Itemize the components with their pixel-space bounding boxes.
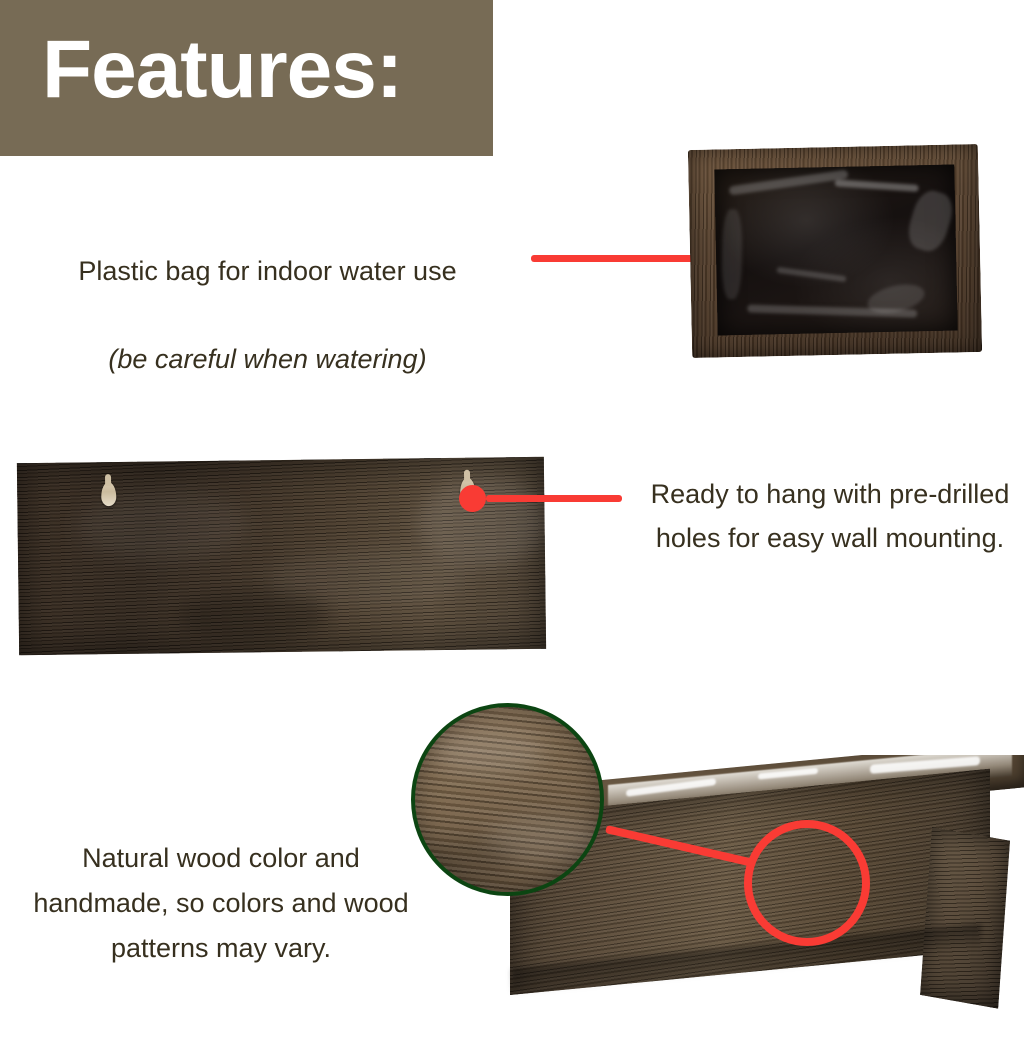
page-title: Features: <box>42 22 402 118</box>
infographic-page: Features: Plastic bag for indoor water u… <box>0 0 1024 1041</box>
liner-highlight <box>758 768 818 780</box>
plastic-sheen <box>729 169 849 195</box>
plastic-sheen <box>904 187 958 255</box>
wood-grain-shadow <box>178 589 329 641</box>
magnified-grain-highlight <box>435 731 545 775</box>
red-circle-highlight-wood-grain <box>744 820 870 946</box>
photo-planter-top-view <box>688 144 982 358</box>
plastic-sheen <box>721 209 742 299</box>
plastic-sheen <box>835 179 919 192</box>
plastic-liner-bag <box>714 164 957 335</box>
caption-ready-to-hang: Ready to hang with pre-drilled holes for… <box>650 472 1010 560</box>
planter-side-face <box>920 827 1010 1009</box>
red-dot-pointer-icon-keyhole <box>459 485 486 512</box>
caption-plastic-bag: Plastic bag for indoor water use (be car… <box>30 205 505 425</box>
features-banner: Features: <box>0 0 493 156</box>
keyhole-slot-icon-left <box>101 482 116 506</box>
caption-plastic-bag-line2: (be careful when watering) <box>30 337 505 381</box>
plastic-sheen <box>776 267 846 282</box>
caption-plastic-bag-line1: Plastic bag for indoor water use <box>30 249 505 293</box>
callout-arrow-line-keyhole <box>486 495 622 502</box>
caption-natural-wood: Natural wood color and handmade, so colo… <box>30 836 412 971</box>
magnifier-circle-icon-wood-grain <box>411 703 604 896</box>
magnified-grain-shadow <box>425 837 515 877</box>
